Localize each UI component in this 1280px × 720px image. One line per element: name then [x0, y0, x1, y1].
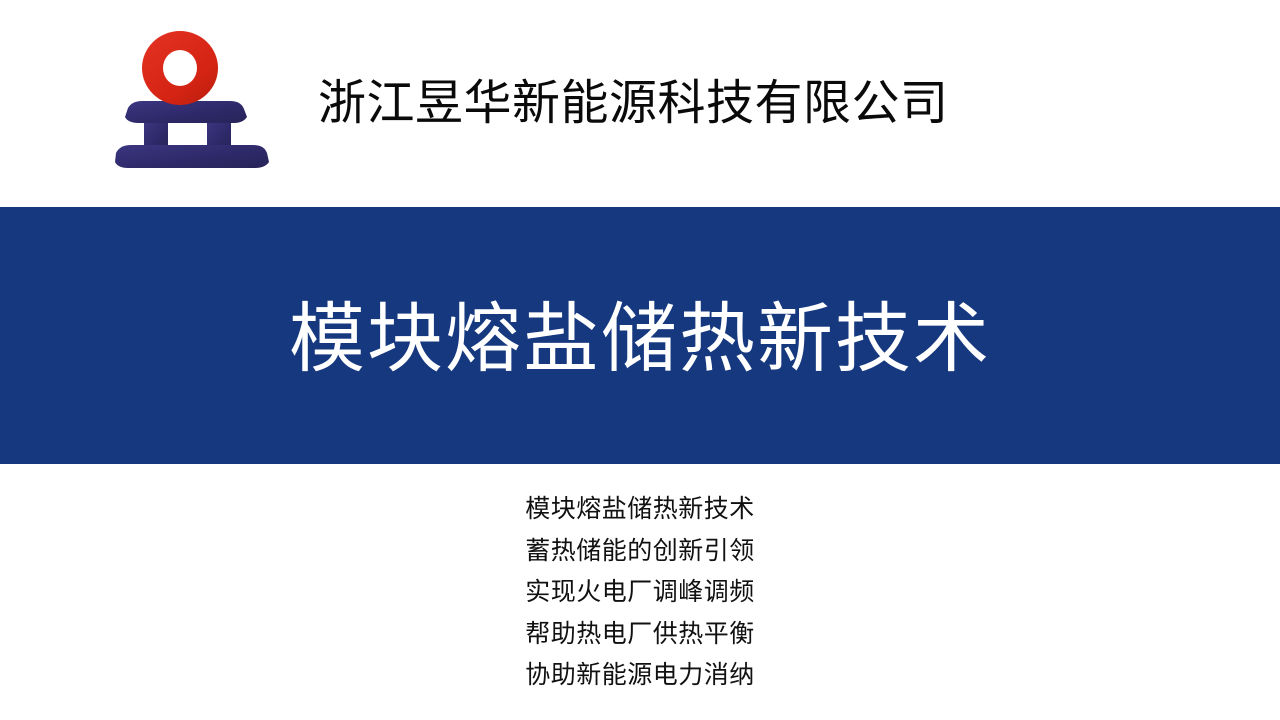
tagline-item: 实现火电厂调峰调频 — [0, 571, 1280, 613]
title-band: 模块熔盐储热新技术 — [0, 207, 1280, 464]
company-name: 浙江昱华新能源科技有限公司 — [318, 73, 949, 133]
presentation-slide: 浙江昱华新能源科技有限公司 模块熔盐储热新技术 模块熔盐储热新技术 蓄热储能的创… — [0, 0, 1280, 720]
company-logo — [112, 28, 274, 176]
logo-base-shape — [115, 96, 269, 168]
slide-header: 浙江昱华新能源科技有限公司 — [0, 0, 1280, 207]
page-title: 模块熔盐储热新技术 — [289, 291, 991, 387]
logo-ring-shape — [142, 31, 218, 105]
tagline-item: 帮助热电厂供热平衡 — [0, 613, 1280, 655]
tagline-item: 模块熔盐储热新技术 — [0, 488, 1280, 530]
tagline-item: 协助新能源电力消纳 — [0, 654, 1280, 696]
tagline-list: 模块熔盐储热新技术 蓄热储能的创新引领 实现火电厂调峰调频 帮助热电厂供热平衡 … — [0, 488, 1280, 696]
tagline-item: 蓄热储能的创新引领 — [0, 530, 1280, 572]
